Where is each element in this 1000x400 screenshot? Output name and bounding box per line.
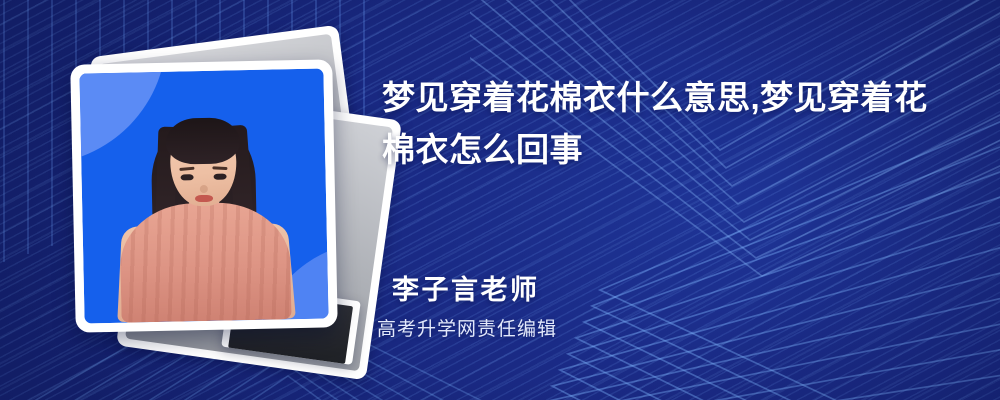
author-photo-stack bbox=[55, 40, 355, 345]
portrait-nose bbox=[200, 184, 208, 192]
author-name: 李子言老师 bbox=[392, 272, 952, 308]
article-author-banner: 梦见穿着花棉衣什么意思,梦见穿着花棉衣怎么回事 李子言老师 高考升学网责任编辑 bbox=[0, 0, 1000, 400]
portrait-eye-right bbox=[214, 174, 227, 180]
banner-text-block: 梦见穿着花棉衣什么意思,梦见穿着花棉衣怎么回事 bbox=[382, 72, 962, 176]
portrait-person bbox=[79, 68, 328, 323]
portrait-mouth bbox=[195, 194, 213, 201]
author-role: 高考升学网责任编辑 bbox=[377, 317, 952, 343]
portrait-eye-left bbox=[181, 174, 194, 180]
author-photo-frame bbox=[79, 68, 328, 323]
portrait-hair-front bbox=[165, 117, 240, 165]
article-title: 梦见穿着花棉衣什么意思,梦见穿着花棉衣怎么回事 bbox=[382, 72, 937, 176]
author-portrait-image bbox=[79, 68, 328, 323]
author-photo-card bbox=[70, 59, 338, 332]
author-byline: 李子言老师 高考升学网责任编辑 bbox=[392, 272, 952, 343]
portrait-dress bbox=[119, 201, 291, 323]
